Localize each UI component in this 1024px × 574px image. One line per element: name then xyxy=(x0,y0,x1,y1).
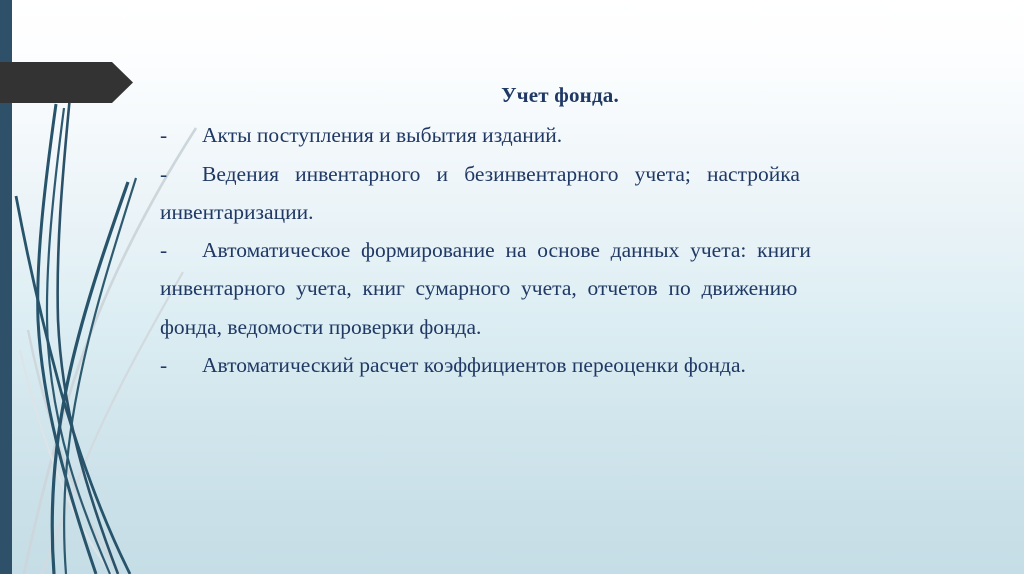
list-item-text: Акты поступления и выбытия изданий. xyxy=(202,123,562,147)
list-item-text: Ведения инвентарного и безинвентарного у… xyxy=(202,162,800,186)
bullet-marker: - xyxy=(160,346,202,384)
list-item-text: фонда, ведомости проверки фонда. xyxy=(160,315,481,339)
presentation-slide: Учет фонда. -Акты поступления и выбытия … xyxy=(0,0,1024,574)
arrow-banner-shape xyxy=(0,62,133,103)
list-item: -Ведения инвентарного и безинвентарного … xyxy=(160,155,960,193)
list-item: -Акты поступления и выбытия изданий. xyxy=(160,116,960,154)
list-item-text: инвентаризации. xyxy=(160,200,313,224)
bullet-marker: - xyxy=(160,116,202,154)
page-title: Учет фонда. xyxy=(160,82,960,108)
list-item: -Автоматическое формирование на основе д… xyxy=(160,231,960,269)
bullet-marker: - xyxy=(160,155,202,193)
list-item-continuation: фонда, ведомости проверки фонда. xyxy=(160,308,960,346)
list-item-text: инвентарного учета, книг сумарного учета… xyxy=(160,276,797,300)
slide-content: Учет фонда. -Акты поступления и выбытия … xyxy=(160,82,960,384)
list-item-continuation: инвентаризации. xyxy=(160,193,960,231)
list-item-continuation: инвентарного учета, книг сумарного учета… xyxy=(160,269,960,307)
bullet-marker: - xyxy=(160,231,202,269)
list-item-text: Автоматическое формирование на основе да… xyxy=(202,238,811,262)
list-item-text: Автоматический расчет коэффициентов пере… xyxy=(202,353,746,377)
list-item: -Автоматический расчет коэффициентов пер… xyxy=(160,346,960,384)
